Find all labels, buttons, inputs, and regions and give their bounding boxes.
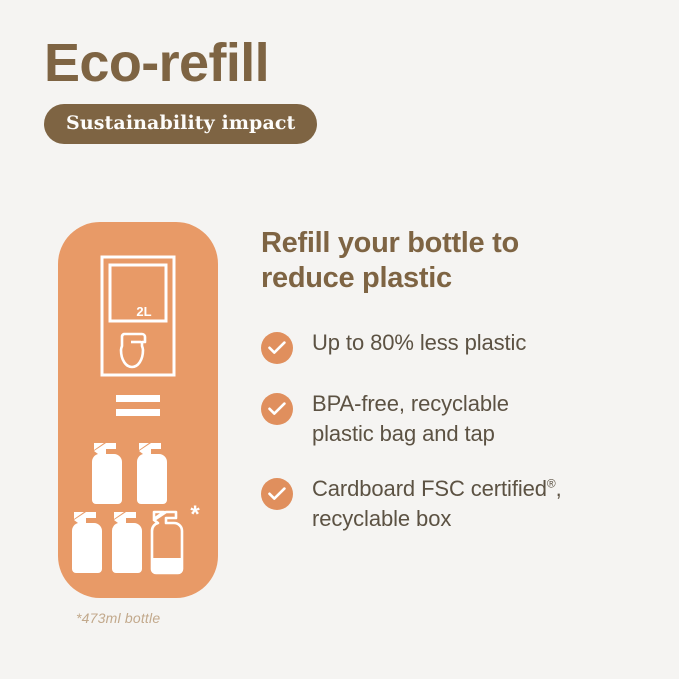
check-circle-icon: [261, 478, 293, 510]
spray-bottle-icon: [92, 443, 122, 504]
box-volume-label: 2L: [136, 304, 151, 319]
list-item-text: Cardboard FSC certified®, recyclable box: [312, 474, 562, 534]
page-title: Eco-refill: [44, 34, 644, 92]
section-heading-line2: reduce plastic: [261, 262, 452, 294]
list-item: Up to 80% less plastic: [261, 328, 661, 364]
tap-spout-icon: [121, 334, 145, 367]
asterisk-marker: *: [190, 501, 200, 528]
illustration-panel: 2L: [58, 222, 218, 598]
check-circle-icon: [261, 332, 293, 364]
benefits-list: Up to 80% less plastic BPA-free, recycla…: [261, 328, 661, 534]
checkmark-icon: [268, 341, 286, 355]
section-heading-line1: Refill your bottle to: [261, 227, 519, 259]
header: Eco-refill Sustainability impact: [44, 34, 644, 144]
content-column: Refill your bottle to reduce plastic Up …: [261, 226, 661, 559]
list-item-suffix: ,: [556, 476, 562, 501]
list-item-line1: BPA-free, recyclable: [312, 391, 509, 416]
checkmark-icon: [268, 487, 286, 501]
list-item-line1: Cardboard FSC certified: [312, 476, 547, 501]
check-circle-icon: [261, 393, 293, 425]
checkmark-icon: [268, 402, 286, 416]
section-heading: Refill your bottle to reduce plastic: [261, 226, 661, 296]
list-item: BPA-free, recyclable plastic bag and tap: [261, 389, 661, 449]
spray-bottle-partial-icon: [152, 512, 182, 573]
spray-bottle-group-top: [92, 443, 167, 504]
footnote: *473ml bottle: [76, 610, 160, 626]
list-item-line2: recyclable box: [312, 506, 451, 531]
list-item: Cardboard FSC certified®, recyclable box: [261, 474, 661, 534]
list-item-text: Up to 80% less plastic: [312, 328, 526, 358]
list-item-line1: Up to 80% less plastic: [312, 330, 526, 355]
spray-bottle-group-bottom: *: [72, 501, 200, 573]
spray-bottle-icon: [72, 512, 102, 573]
refill-illustration: 2L: [58, 222, 218, 598]
equals-icon: [116, 395, 160, 416]
infographic-page: Eco-refill Sustainability impact 2L: [0, 0, 679, 679]
list-item-line2: plastic bag and tap: [312, 421, 495, 446]
spray-bottle-icon: [112, 512, 142, 573]
status-badge: Sustainability impact: [44, 104, 317, 144]
spray-bottle-icon: [137, 443, 167, 504]
registered-mark: ®: [547, 477, 556, 491]
list-item-text: BPA-free, recyclable plastic bag and tap: [312, 389, 509, 449]
